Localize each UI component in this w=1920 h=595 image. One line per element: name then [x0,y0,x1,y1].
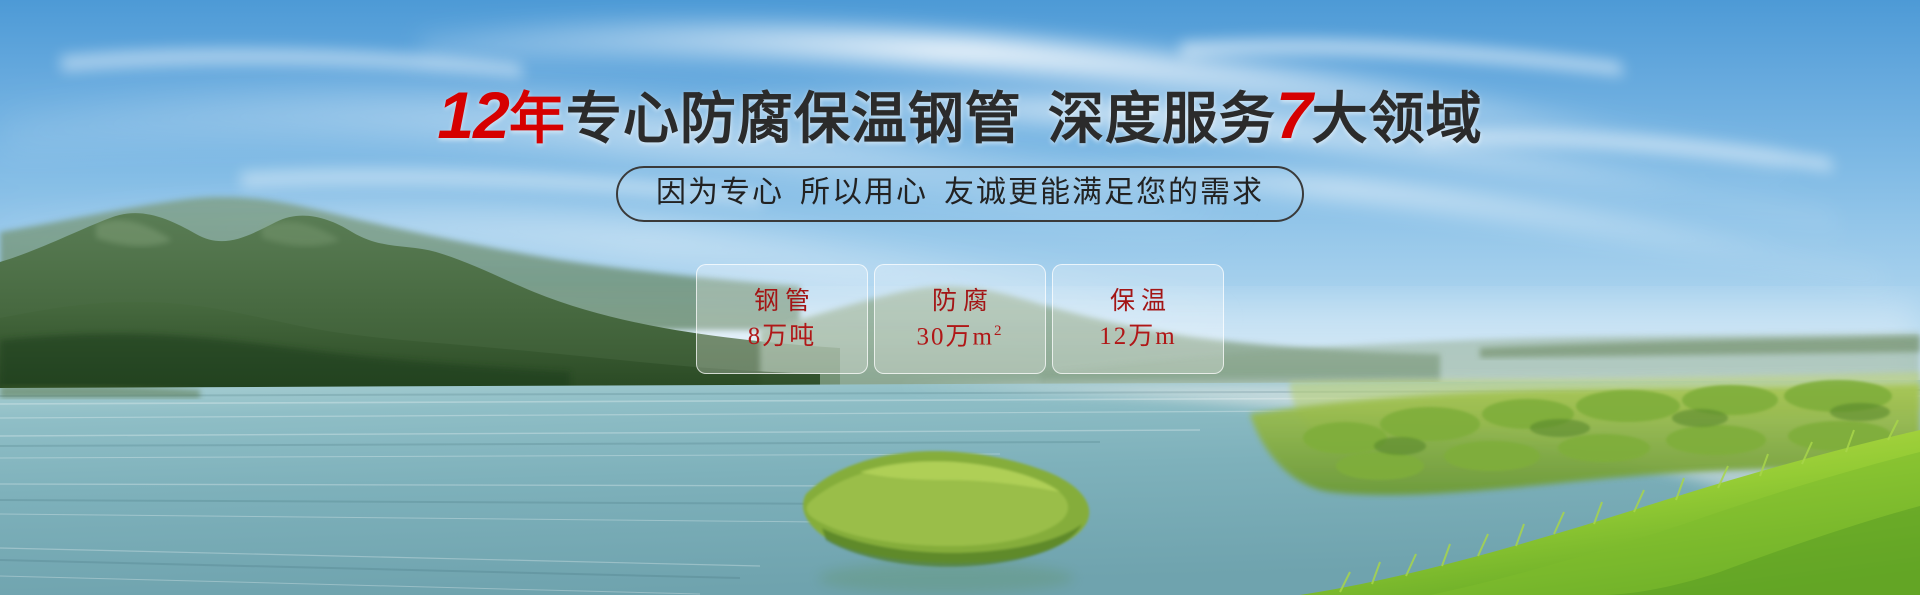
subtitle-part-2: 所以用心 [800,176,928,209]
stat-card-anticorrosion[interactable]: 防腐 30万m2 [874,264,1046,374]
stat-card-group: 钢管 8万吨 防腐 30万m2 保温 12万m [0,264,1920,374]
headline-tail-text: 大领域 [1312,87,1483,150]
subtitle-part-1: 因为专心 [656,176,784,209]
stat-card-value-exponent: 2 [994,323,1004,339]
headline-fields-number: 7 [1276,78,1312,152]
stat-card-value: 8万吨 [748,324,817,349]
stat-card-label: 防腐 [926,289,994,314]
banner-headline: 12年专心防腐保温钢管深度服务7大领域 [0,82,1920,148]
subtitle-pill: 因为专心所以用心友诚更能满足您的需求 [616,166,1304,222]
subtitle-pill-wrapper: 因为专心所以用心友诚更能满足您的需求 [0,166,1920,222]
stat-card-label: 保温 [1104,289,1172,314]
headline-second-text: 深度服务 [1048,87,1276,150]
subtitle-part-3: 友诚更能满足您的需求 [944,176,1264,209]
headline-years-number: 12 [437,78,508,152]
stat-card-label: 钢管 [748,289,816,314]
hero-banner: 12年专心防腐保温钢管深度服务7大领域 因为专心所以用心友诚更能满足您的需求 钢… [0,0,1920,595]
stat-card-insulation[interactable]: 保温 12万m [1052,264,1224,374]
stat-card-value: 12万m [1099,324,1176,349]
headline-main-text: 专心防腐保温钢管 [566,87,1022,150]
headline-years-unit: 年 [509,87,566,150]
stat-card-value: 30万m2 [917,324,1004,349]
stat-card-steel-pipe[interactable]: 钢管 8万吨 [696,264,868,374]
